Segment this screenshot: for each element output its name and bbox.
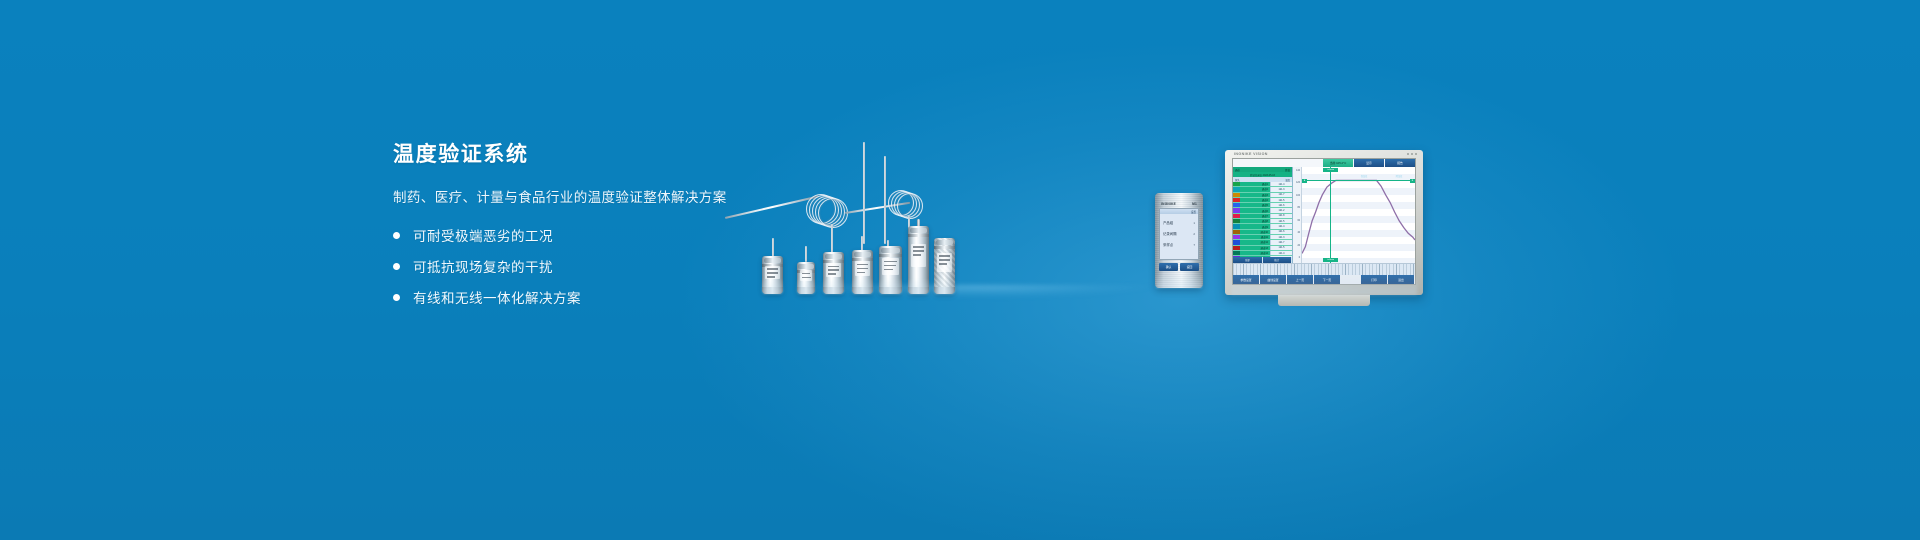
y-tick: 0 — [1299, 257, 1300, 259]
channel-value: 121.6 — [1270, 203, 1292, 207]
bullet-dot-icon — [393, 232, 400, 239]
monitor-bezel-dots-icon — [1407, 153, 1417, 155]
y-tick: 140 — [1296, 170, 1300, 172]
data-logger-6 — [908, 226, 929, 294]
panel-monitor: INGNIKE VISION 当前:105.2°C 显示 报告 通道 数值 验证 — [1225, 150, 1423, 295]
chart-y-axis: 140 120 100 80 60 40 20 0 — [1293, 167, 1302, 263]
data-logger-5 — [879, 246, 902, 294]
list-item: 采样点 7 — [1163, 242, 1195, 247]
chart-annotation: 保温段 — [1361, 174, 1368, 178]
report-button[interactable]: 报告 — [1385, 159, 1415, 167]
channel-value: 121.8 — [1270, 214, 1292, 218]
channel-name: 通道8 — [1240, 219, 1270, 223]
channel-name: 通道12 — [1240, 240, 1270, 244]
channel-title-right: 数值 — [1285, 168, 1290, 172]
channel-name: 通道14 — [1240, 251, 1270, 255]
y-tick: 60 — [1297, 220, 1300, 222]
handheld-brand-right: M1 — [1192, 202, 1197, 206]
y-tick: 120 — [1296, 182, 1300, 184]
color-swatch — [1233, 224, 1240, 228]
channel-value: 121.4 — [1270, 224, 1292, 228]
color-swatch — [1233, 187, 1240, 191]
channel-name: 通道3 — [1240, 193, 1270, 197]
chart-annotation: 降温段 — [1396, 174, 1403, 178]
display-button[interactable]: 显示 — [1354, 159, 1384, 167]
bullet-dot-icon — [393, 263, 400, 270]
y-tick: 20 — [1297, 245, 1300, 247]
software-top-toolbar: 当前:105.2°C 显示 报告 — [1233, 159, 1415, 167]
list-item: 可耐受极端恶劣的工况 — [393, 225, 813, 245]
channel-value: 121.5 — [1270, 198, 1292, 202]
color-swatch — [1233, 246, 1240, 250]
channel-name: 通道6 — [1240, 209, 1270, 213]
channel-value: 121.3 — [1270, 235, 1292, 239]
y-tick: 40 — [1297, 232, 1300, 234]
y-tick: 100 — [1296, 195, 1300, 197]
setting-label: 记录间隔 — [1163, 231, 1177, 236]
handheld-reader[interactable]: INGNIKE M1 设置 产品组 1 记录间隔 2 采样点 7 确 — [1155, 193, 1203, 288]
channel-value: 121.7 — [1270, 240, 1292, 244]
cursor-handle-left[interactable]: A — [1302, 179, 1307, 183]
handheld-brand-left: INGNIKE — [1161, 202, 1176, 206]
cursor-tag-top[interactable]: t=0min — [1323, 168, 1338, 172]
color-swatch — [1233, 208, 1240, 212]
handheld-confirm-button[interactable]: 确认 — [1159, 263, 1178, 271]
setting-value: 2 — [1193, 232, 1195, 236]
setting-label: 采样点 — [1163, 242, 1173, 247]
needle-probe-tall — [863, 142, 865, 244]
y-tick: 80 — [1297, 207, 1300, 209]
color-swatch — [1233, 230, 1240, 234]
monitor-brand: INGNIKE VISION — [1234, 152, 1268, 156]
setting-value: 1 — [1193, 221, 1195, 225]
feature-label: 可抵抗现场复杂的干扰 — [413, 256, 553, 276]
feature-label: 有线和无线一体化解决方案 — [413, 287, 581, 307]
data-logger-7-sintered — [934, 238, 955, 294]
list-item: 可抵抗现场复杂的干扰 — [393, 256, 813, 276]
channel-name: 通道4 — [1240, 198, 1270, 202]
handheld-brand: INGNIKE M1 — [1159, 202, 1199, 206]
setting-value: 7 — [1193, 243, 1195, 247]
list-item: 产品组 1 — [1163, 220, 1195, 225]
chart-vertical-cursor[interactable]: t=0min t=0min — [1330, 167, 1331, 263]
color-swatch — [1233, 251, 1240, 255]
color-swatch — [1233, 203, 1240, 207]
color-swatch — [1233, 193, 1240, 197]
color-swatch — [1233, 235, 1240, 239]
channel-title-left: 通道 — [1235, 168, 1240, 172]
monitor-screen: 当前:105.2°C 显示 报告 通道 数值 验证记录仪 2023-05-16 … — [1232, 158, 1416, 285]
probe-lead — [805, 246, 807, 262]
channel-name: 通道13 — [1240, 246, 1270, 250]
handheld-setting-rows: 产品组 1 记录间隔 2 采样点 7 — [1160, 214, 1198, 259]
channel-value: 121.6 — [1270, 230, 1292, 234]
hero-banner: 温度验证系统 制药、医疗、计量与食品行业的温度验证整体解决方案 可耐受极端恶劣的… — [0, 0, 1920, 540]
channel-name: 通道10 — [1240, 230, 1270, 234]
color-swatch — [1233, 182, 1240, 186]
chart-plot: A B t=0min t=0min 保温段 降温段 — [1302, 167, 1415, 263]
color-swatch — [1233, 198, 1240, 202]
probe-lead — [772, 238, 774, 258]
setting-label: 产品组 — [1163, 220, 1173, 225]
channel-name: 通道9 — [1240, 225, 1270, 229]
data-logger-3 — [823, 252, 844, 294]
color-swatch — [1233, 219, 1240, 223]
needle-probe-tall-2 — [884, 156, 886, 244]
handheld-back-button[interactable]: 返回 — [1180, 263, 1199, 271]
channel-name: 通道5 — [1240, 203, 1270, 207]
channel-value: 121.7 — [1270, 193, 1292, 197]
channel-panel: 通道 数值 验证记录仪 2023-05-16 探头 温度 通道1121.4 通道… — [1233, 167, 1293, 263]
channel-name: 通道7 — [1240, 214, 1270, 218]
data-logger-2 — [797, 262, 815, 294]
list-item: 记录间隔 2 — [1163, 231, 1195, 236]
channel-value: 121.3 — [1270, 187, 1292, 191]
chart-area: 140 120 100 80 60 40 20 0 — [1293, 167, 1415, 263]
channel-table-body: 通道1121.4 通道2121.3 通道3121.7 通道4121.5 通道51… — [1233, 182, 1292, 257]
column-header-temp: 温度 — [1285, 178, 1290, 182]
monitor-reflection — [1231, 273, 1417, 295]
data-logger-1 — [762, 256, 783, 294]
page-title: 温度验证系统 — [393, 142, 813, 168]
channel-value: 121.4 — [1270, 182, 1292, 186]
handheld-reflection — [1156, 272, 1201, 288]
current-temp-readout: 当前:105.2°C — [1323, 159, 1353, 167]
cursor-tag-bottom[interactable]: t=0min — [1323, 258, 1338, 262]
channel-value: 121.5 — [1270, 246, 1292, 250]
channel-value: 121.4 — [1270, 251, 1292, 255]
color-swatch — [1233, 214, 1240, 218]
page-subtitle: 制药、医疗、计量与食品行业的温度验证整体解决方案 — [393, 186, 813, 206]
channel-name: 通道2 — [1240, 187, 1270, 191]
handheld-keypad: 确认 返回 — [1159, 263, 1199, 271]
cursor-handle-right[interactable]: B — [1410, 179, 1415, 183]
chart-horizontal-cursor[interactable]: A B — [1302, 180, 1415, 181]
column-header-probe: 探头 — [1235, 178, 1240, 182]
channel-name: 通道1 — [1240, 182, 1270, 186]
bullet-dot-icon — [393, 294, 400, 301]
handheld-screen: 设置 产品组 1 记录间隔 2 采样点 7 — [1159, 208, 1199, 260]
monitor-stand — [1278, 295, 1370, 306]
data-logger-4 — [852, 250, 873, 294]
channel-name: 通道11 — [1240, 235, 1270, 239]
channel-value: 121.5 — [1270, 219, 1292, 223]
color-swatch — [1233, 240, 1240, 244]
feature-label: 可耐受极端恶劣的工况 — [413, 225, 553, 245]
channel-value: 121.2 — [1270, 208, 1292, 212]
